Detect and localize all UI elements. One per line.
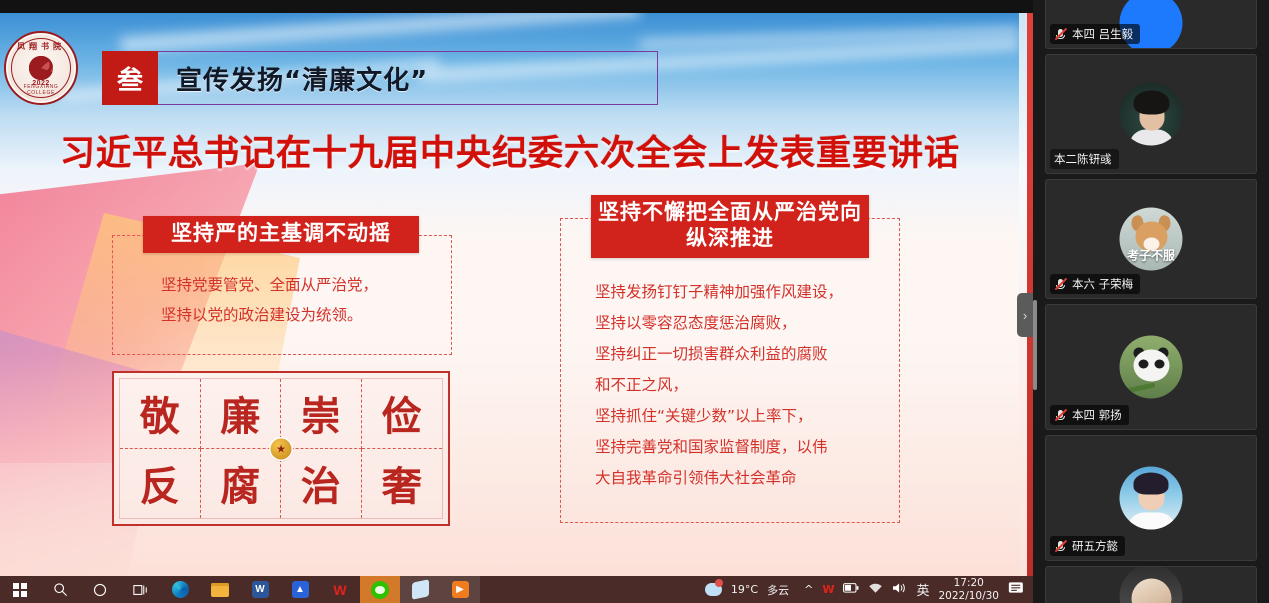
volume-icon[interactable] xyxy=(892,582,907,597)
left-card-banner: 坚持严的主基调不动摇 xyxy=(143,216,419,253)
section-number: 叁 xyxy=(102,51,158,105)
tray-overflow-chevron-icon[interactable]: ^ xyxy=(804,583,813,596)
participant-tile[interactable]: 本四 郭扬 xyxy=(1045,304,1257,430)
party-emblem-icon: ★ xyxy=(271,438,292,459)
slogan-grid-card: 敬 廉 崇 俭 反 腐 治 奢 ★ xyxy=(112,371,450,526)
right-card-line: 坚持完善党和国家监督制度，以伟 xyxy=(595,432,899,463)
mic-muted-icon xyxy=(1054,278,1067,291)
participant-tile[interactable]: 考子不服 本六 子荣梅 xyxy=(1045,179,1257,299)
participant-nametag: 研五方懿 xyxy=(1050,536,1125,556)
system-tray: 19°C 多云 ^ W 英 17:20 2022/10/30 xyxy=(705,577,1033,601)
ime-indicator[interactable]: 英 xyxy=(916,580,929,599)
participant-nametag: 本二陈钘彧 xyxy=(1050,149,1119,169)
slogan-char: 反 xyxy=(120,449,201,519)
wps-cloud-icon[interactable]: ▲ xyxy=(280,576,320,603)
weather-temperature[interactable]: 19°C xyxy=(731,583,758,596)
participant-nametag: 本六 子荣梅 xyxy=(1050,274,1140,294)
mic-muted-icon xyxy=(1054,28,1067,41)
microsoft-edge-icon[interactable] xyxy=(160,576,200,603)
tencent-meeting-icon[interactable] xyxy=(400,576,440,603)
slogan-char: 治 xyxy=(281,449,362,519)
right-dashed-card: 坚持不懈把全面从严治党向纵深推进 坚持发扬钉钉子精神加强作风建设， 坚持以零容忍… xyxy=(560,218,900,523)
slide-canvas: 凤翔书院 2022 FENGXIANG COLLEGE 叁 宣传发扬“清廉文化”… xyxy=(0,13,1033,576)
clock-date: 2022/10/30 xyxy=(938,590,999,602)
taskbar-items: W ▲ W ▶ xyxy=(0,576,480,603)
college-logo-ring: 凤翔书院 2022 FENGXIANG COLLEGE xyxy=(11,38,71,98)
clock-time: 17:20 xyxy=(938,577,999,589)
man-photo-avatar xyxy=(1120,83,1183,146)
participant-name: 本六 子荣梅 xyxy=(1072,276,1133,292)
participant-nametag: 本四 郭扬 xyxy=(1050,405,1129,425)
participant-name: 本二陈钘彧 xyxy=(1054,151,1112,167)
college-logo-english-name: FENGXIANG COLLEGE xyxy=(12,84,70,96)
sky-streak-decoration xyxy=(120,13,640,53)
participant-nametag: 本四 吕生毅 xyxy=(1050,24,1140,44)
left-content-column: 坚持严的主基调不动摇 坚持党要管党、全面从严治党， 坚持以党的政治建设为统领。 xyxy=(112,235,452,355)
participant-name: 研五方懿 xyxy=(1072,538,1118,554)
section-title-box: 宣传发扬“清廉文化” xyxy=(158,51,658,105)
battery-icon[interactable] xyxy=(843,583,859,596)
right-card-body: 坚持发扬钉钉子精神加强作风建设， 坚持以零容忍态度惩治腐败， 坚持纠正一切损害群… xyxy=(561,219,899,494)
chevron-right-icon[interactable]: › xyxy=(1017,293,1033,337)
right-card-line: 和不正之风， xyxy=(595,370,899,401)
weather-description[interactable]: 多云 xyxy=(767,582,789,598)
windows-start-icon[interactable] xyxy=(0,576,40,603)
participant-name: 本四 吕生毅 xyxy=(1072,26,1133,42)
right-card-line: 大自我革命引领伟大社会革命 xyxy=(595,463,899,494)
slogan-char: 敬 xyxy=(120,379,201,449)
wps-tray-icon[interactable]: W xyxy=(822,583,834,596)
slogan-char: 腐 xyxy=(201,449,282,519)
dog-photo-avatar: 考子不服 xyxy=(1120,208,1183,271)
college-logo: 凤翔书院 2022 FENGXIANG COLLEGE xyxy=(4,31,78,105)
section-title: 宣传发扬“清廉文化” xyxy=(176,60,428,97)
task-view-icon[interactable] xyxy=(120,576,160,603)
right-card-line: 坚持纠正一切损害群众利益的腐败 xyxy=(595,339,899,370)
slogan-char: 崇 xyxy=(281,379,362,449)
right-card-banner: 坚持不懈把全面从严治党向纵深推进 xyxy=(591,195,869,258)
right-card-line: 坚持以零容忍态度惩治腐败， xyxy=(595,308,899,339)
mic-muted-icon xyxy=(1054,540,1067,553)
right-card-line: 坚持发扬钉钉子精神加强作风建设， xyxy=(595,277,899,308)
panda-photo-avatar xyxy=(1120,336,1183,399)
boy-photo-avatar xyxy=(1120,467,1183,530)
slide-top-letterbox xyxy=(0,0,1033,13)
screen: 凤翔书院 2022 FENGXIANG COLLEGE 叁 宣传发扬“清廉文化”… xyxy=(0,0,1269,603)
right-card-line: 坚持抓住“关键少数”以上率下， xyxy=(595,401,899,432)
slide-headline: 习近平总书记在十九届中央纪委六次全会上发表重要讲话 xyxy=(0,125,1020,176)
ball-photo-avatar xyxy=(1120,566,1183,603)
notification-icon[interactable] xyxy=(1008,581,1025,598)
avatar-overlay-text: 考子不服 xyxy=(1120,247,1183,264)
section-header: 叁 宣传发扬“清廉文化” xyxy=(102,51,658,105)
mic-muted-icon xyxy=(1054,409,1067,422)
left-card-line: 坚持党要管党、全面从严治党， xyxy=(161,270,451,300)
slogan-char: 俭 xyxy=(362,379,443,449)
wechat-icon[interactable] xyxy=(360,576,400,603)
wps-writer-icon[interactable]: W xyxy=(320,576,360,603)
shared-screen-slide[interactable]: 凤翔书院 2022 FENGXIANG COLLEGE 叁 宣传发扬“清廉文化”… xyxy=(0,0,1033,576)
participant-tile[interactable]: 本二陈钘彧 xyxy=(1045,54,1257,174)
right-content-column: 坚持不懈把全面从严治党向纵深推进 坚持发扬钉钉子精神加强作风建设， 坚持以零容忍… xyxy=(560,218,900,523)
file-explorer-icon[interactable] xyxy=(200,576,240,603)
participant-panel-scrollbar[interactable] xyxy=(1033,300,1037,390)
weather-icon[interactable] xyxy=(705,583,722,596)
participant-panel[interactable]: 本四 吕生毅 本二陈钘彧 考子不服 本六 子荣梅 xyxy=(1033,0,1269,603)
slogan-char: 廉 xyxy=(201,379,282,449)
wifi-icon[interactable] xyxy=(868,583,883,597)
slogan-char: 奢 xyxy=(362,449,443,519)
participant-tile[interactable] xyxy=(1045,566,1257,603)
word-icon[interactable]: W xyxy=(240,576,280,603)
left-dashed-card: 坚持严的主基调不动摇 坚持党要管党、全面从严治党， 坚持以党的政治建设为统领。 xyxy=(112,235,452,355)
participant-tile[interactable]: 研五方懿 xyxy=(1045,435,1257,561)
tencent-video-icon[interactable]: ▶ xyxy=(440,576,480,603)
search-icon[interactable] xyxy=(40,576,80,603)
windows-taskbar[interactable]: W ▲ W ▶ 19°C 多云 ^ W xyxy=(0,576,1033,603)
left-card-line: 坚持以党的政治建设为统领。 xyxy=(161,300,451,330)
clock[interactable]: 17:20 2022/10/30 xyxy=(938,577,999,601)
cortana-circle-icon[interactable] xyxy=(80,576,120,603)
participant-name: 本四 郭扬 xyxy=(1072,407,1122,423)
participant-tile[interactable]: 本四 吕生毅 xyxy=(1045,0,1257,49)
